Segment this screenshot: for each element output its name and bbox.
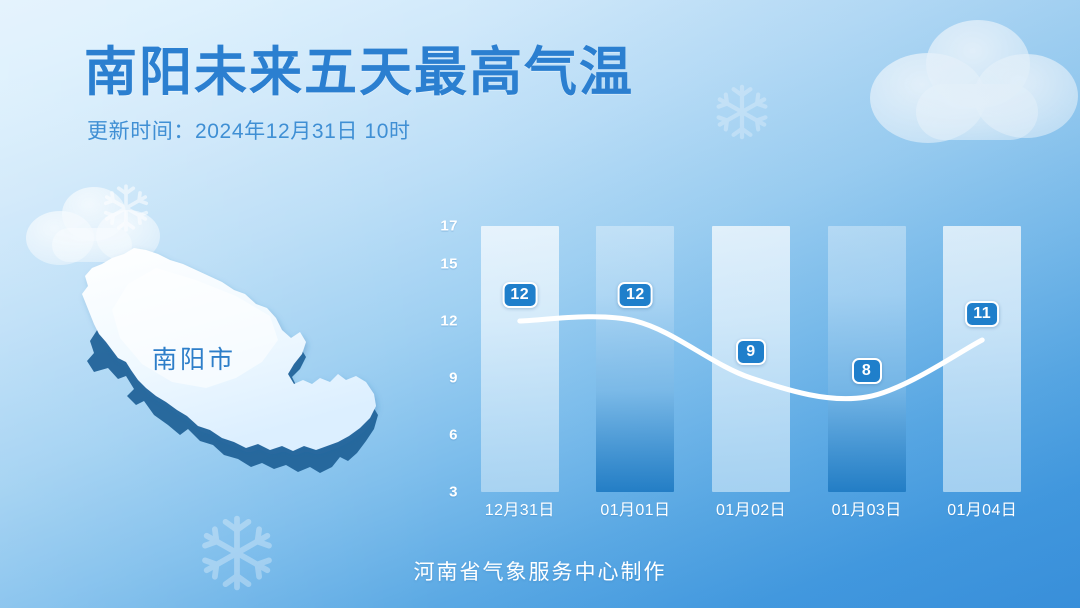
y-axis-tick: 17 (416, 218, 458, 235)
x-axis-tick: 01月01日 (580, 496, 690, 520)
x-axis: 12月31日01月01日01月02日01月03日01月04日 (462, 496, 1040, 522)
data-point-badge: 12 (618, 282, 653, 308)
nanyang-map-shape (46, 222, 436, 512)
data-point-badge: 8 (852, 358, 882, 384)
footer-credit: 河南省气象服务中心制作 (0, 556, 1080, 586)
y-axis-tick: 12 (416, 313, 458, 330)
map-city-label: 南阳市 (152, 340, 236, 376)
y-axis: 171512963 (416, 226, 458, 492)
y-axis-tick: 9 (416, 370, 458, 387)
update-time-text: 更新时间：2024年12月31日 10时 (87, 115, 634, 145)
data-point-badge: 11 (965, 301, 999, 327)
x-axis-tick: 01月02日 (696, 496, 806, 520)
weather-infographic: 南阳未来五天最高气温 更新时间：2024年12月31日 10时 南阳市 (0, 0, 1080, 608)
data-point-badge: 9 (736, 339, 766, 365)
y-axis-tick: 15 (416, 256, 458, 273)
y-axis-tick: 3 (416, 484, 458, 501)
y-axis-tick: 6 (416, 427, 458, 444)
header: 南阳未来五天最高气温 更新时间：2024年12月31日 10时 (84, 44, 634, 145)
plot-area: 12129811 (462, 226, 1040, 492)
x-axis-tick: 01月04日 (927, 496, 1037, 520)
cloud-icon-top-right (860, 0, 1080, 156)
page-title: 南阳未来五天最高气温 (84, 44, 634, 101)
x-axis-tick: 01月03日 (812, 496, 922, 520)
temperature-chart: 171512963 12129811 12月31日01月01日01月02日01月… (416, 226, 1040, 508)
map-region (46, 222, 436, 512)
snowflake-icon-top (712, 82, 772, 142)
data-point-badge: 12 (502, 282, 537, 308)
x-axis-tick: 12月31日 (465, 496, 575, 520)
